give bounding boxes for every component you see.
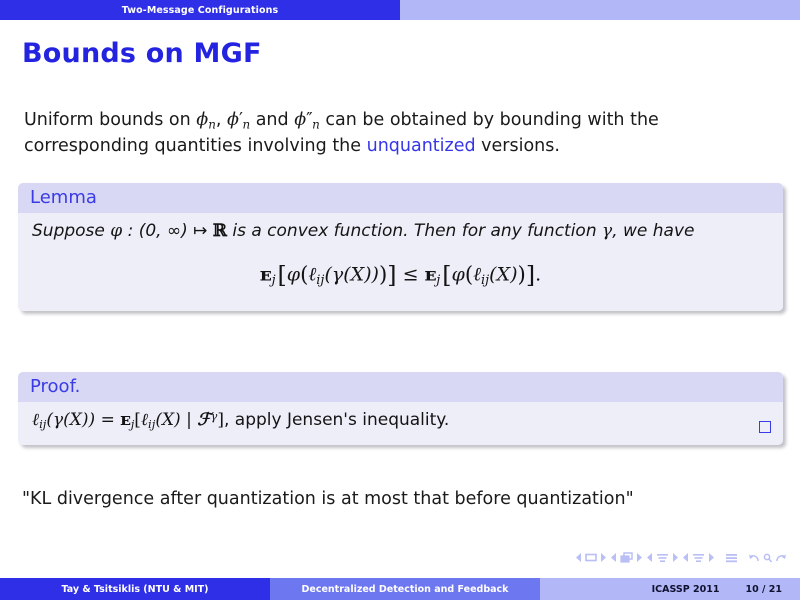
symbol-filtration: ℱ: [197, 410, 210, 430]
proof-arg1: (γ(X)) =: [46, 410, 120, 430]
triangle-right-icon[interactable]: [672, 553, 678, 562]
closing-quote: "KL divergence after quantization is at …: [22, 489, 634, 509]
search-magnifier-icon[interactable]: [763, 553, 772, 563]
eq-rhs-varphi: φ: [452, 264, 465, 286]
frame-stack-icon[interactable]: [620, 552, 633, 563]
beamer-navigation-bar[interactable]: [576, 552, 786, 563]
lemma-heading: Lemma: [18, 183, 783, 213]
footer-author: Tay & Tsitsiklis (NTU & MIT): [0, 578, 270, 600]
eq-rhs-bracket-close: ]: [526, 261, 535, 289]
nav-group-subsection[interactable]: [647, 553, 678, 563]
eq-lhs-expectation-sub: j: [272, 273, 276, 288]
lemma-statement-line2: we have: [623, 221, 694, 241]
lemma-body: Suppose φ : (0, ∞) ↦ ℝ is a convex funct…: [18, 213, 783, 311]
proof-bracket-close: ]: [217, 410, 224, 430]
proof-tail-text: , apply Jensen's inequality.: [224, 410, 449, 430]
header-section-title: Two-Message Configurations: [122, 5, 279, 16]
qed-box-icon: [759, 421, 771, 433]
proof-bracket-open: [: [134, 410, 141, 430]
lemma-statement-b: : (0, ∞) ↦: [122, 221, 213, 241]
nav-group-frame[interactable]: [611, 552, 642, 563]
symbol-real-numbers: ℝ: [213, 221, 227, 241]
footer-page-number: 10 / 21: [745, 584, 782, 595]
symbol-phi-n: ϕ: [196, 110, 208, 130]
lemma-block: Lemma Suppose φ : (0, ∞) ↦ ℝ is a convex…: [18, 183, 783, 311]
eq-rhs-expectation: ᴇ: [425, 264, 437, 286]
lemma-statement-d: ,: [612, 221, 617, 241]
triangle-right-icon[interactable]: [636, 553, 642, 562]
eq-rhs-expectation-sub: j: [436, 273, 440, 288]
eq-rhs-paren-close: ): [518, 263, 526, 288]
eq-relation: ≤: [403, 264, 419, 286]
symbol-phi-dprime-subscript: n: [312, 117, 320, 131]
eq-period: .: [535, 264, 541, 286]
lemma-display-equation: ᴇj [φ(ℓij(γ(X)))] ≤ ᴇj [φ(ℓij(X))].: [32, 259, 769, 293]
triangle-left-icon[interactable]: [647, 553, 653, 562]
footer-conference: ICASSP 2011: [652, 584, 720, 595]
eq-lhs-bracket-close: ]: [387, 261, 396, 289]
eq-rhs-paren-open: (: [465, 263, 473, 288]
header-filler-segment: [400, 0, 800, 20]
symbol-varphi: φ: [110, 221, 122, 241]
nav-group-history[interactable]: [749, 553, 786, 563]
proof-block: Proof. ℓij(γ(X)) = ᴇj[ℓij(X) | ℱγ], appl…: [18, 372, 783, 445]
eq-lhs-varphi: φ: [287, 264, 300, 286]
triangle-left-icon[interactable]: [611, 553, 617, 562]
proof-heading: Proof.: [18, 372, 783, 402]
slide-header-bar: Two-Message Configurations: [0, 0, 800, 20]
footer-subject: Decentralized Detection and Feedback: [270, 578, 540, 600]
slide-title: Bounds on MGF: [22, 38, 262, 69]
nav-group-section[interactable]: [683, 553, 714, 563]
proof-conditional-bar: |: [186, 410, 192, 430]
lemma-statement: Suppose φ : (0, ∞) ↦ ℝ is a convex funct…: [32, 219, 769, 243]
lemma-statement-c: is a convex function. Then for any funct…: [227, 221, 602, 241]
triangle-left-icon[interactable]: [683, 553, 689, 562]
eq-lhs-bracket-open: [: [277, 261, 286, 289]
footer-meta: ICASSP 2011 10 / 21: [540, 578, 800, 600]
eq-rhs-argument: (X): [489, 264, 517, 286]
forward-arrow-icon[interactable]: [775, 553, 786, 563]
eq-lhs-argument: (γ(X)): [324, 264, 379, 286]
symbol-phi-prime-subscript: n: [242, 117, 250, 131]
slide-square-icon[interactable]: [585, 553, 597, 562]
symbol-phi-double-prime: ϕ: [294, 110, 306, 130]
intro-and: and: [250, 110, 294, 130]
back-arrow-icon[interactable]: [749, 553, 760, 563]
triangle-right-icon[interactable]: [600, 553, 606, 562]
symbol-phi-n-subscript: n: [208, 117, 216, 131]
proof-arg2: (X): [155, 410, 180, 430]
proof-expectation: ᴇ: [120, 410, 130, 430]
intro-comma: ,: [216, 110, 227, 130]
nav-group-presentation[interactable]: [725, 553, 738, 563]
intro-text-part3: versions.: [476, 136, 560, 156]
lemma-statement-a: Suppose: [32, 221, 110, 241]
header-section-segment: Two-Message Configurations: [0, 0, 400, 20]
subsection-lines-icon[interactable]: [656, 553, 669, 563]
proof-statement: ℓij(γ(X)) = ᴇj[ℓij(X) | ℱγ], apply Jense…: [32, 408, 769, 433]
eq-lhs-expectation: ᴇ: [260, 264, 272, 286]
intro-paragraph: Uniform bounds on ϕn, ϕ′n and ϕ″n can be…: [24, 108, 764, 159]
slide-footer-bar: Tay & Tsitsiklis (NTU & MIT) Decentraliz…: [0, 578, 800, 600]
triangle-right-icon[interactable]: [708, 553, 714, 562]
intro-text-part1: Uniform bounds on: [24, 110, 196, 130]
eq-rhs-bracket-open: [: [442, 261, 451, 289]
eq-rhs-ell: ℓ: [473, 264, 481, 286]
proof-body: ℓij(γ(X)) = ᴇj[ℓij(X) | ℱγ], apply Jense…: [18, 402, 783, 445]
triangle-left-icon[interactable]: [576, 553, 582, 562]
section-lines-icon[interactable]: [692, 553, 705, 563]
nav-group-slide[interactable]: [576, 553, 606, 562]
presentation-lines-icon[interactable]: [725, 553, 738, 563]
eq-rhs-ell-sub: ij: [481, 273, 489, 288]
proof-ell2: ℓ: [141, 410, 148, 430]
symbol-gamma: γ: [602, 221, 612, 241]
symbol-phi-prime: ϕ: [227, 110, 239, 130]
highlight-unquantized: unquantized: [367, 136, 476, 156]
